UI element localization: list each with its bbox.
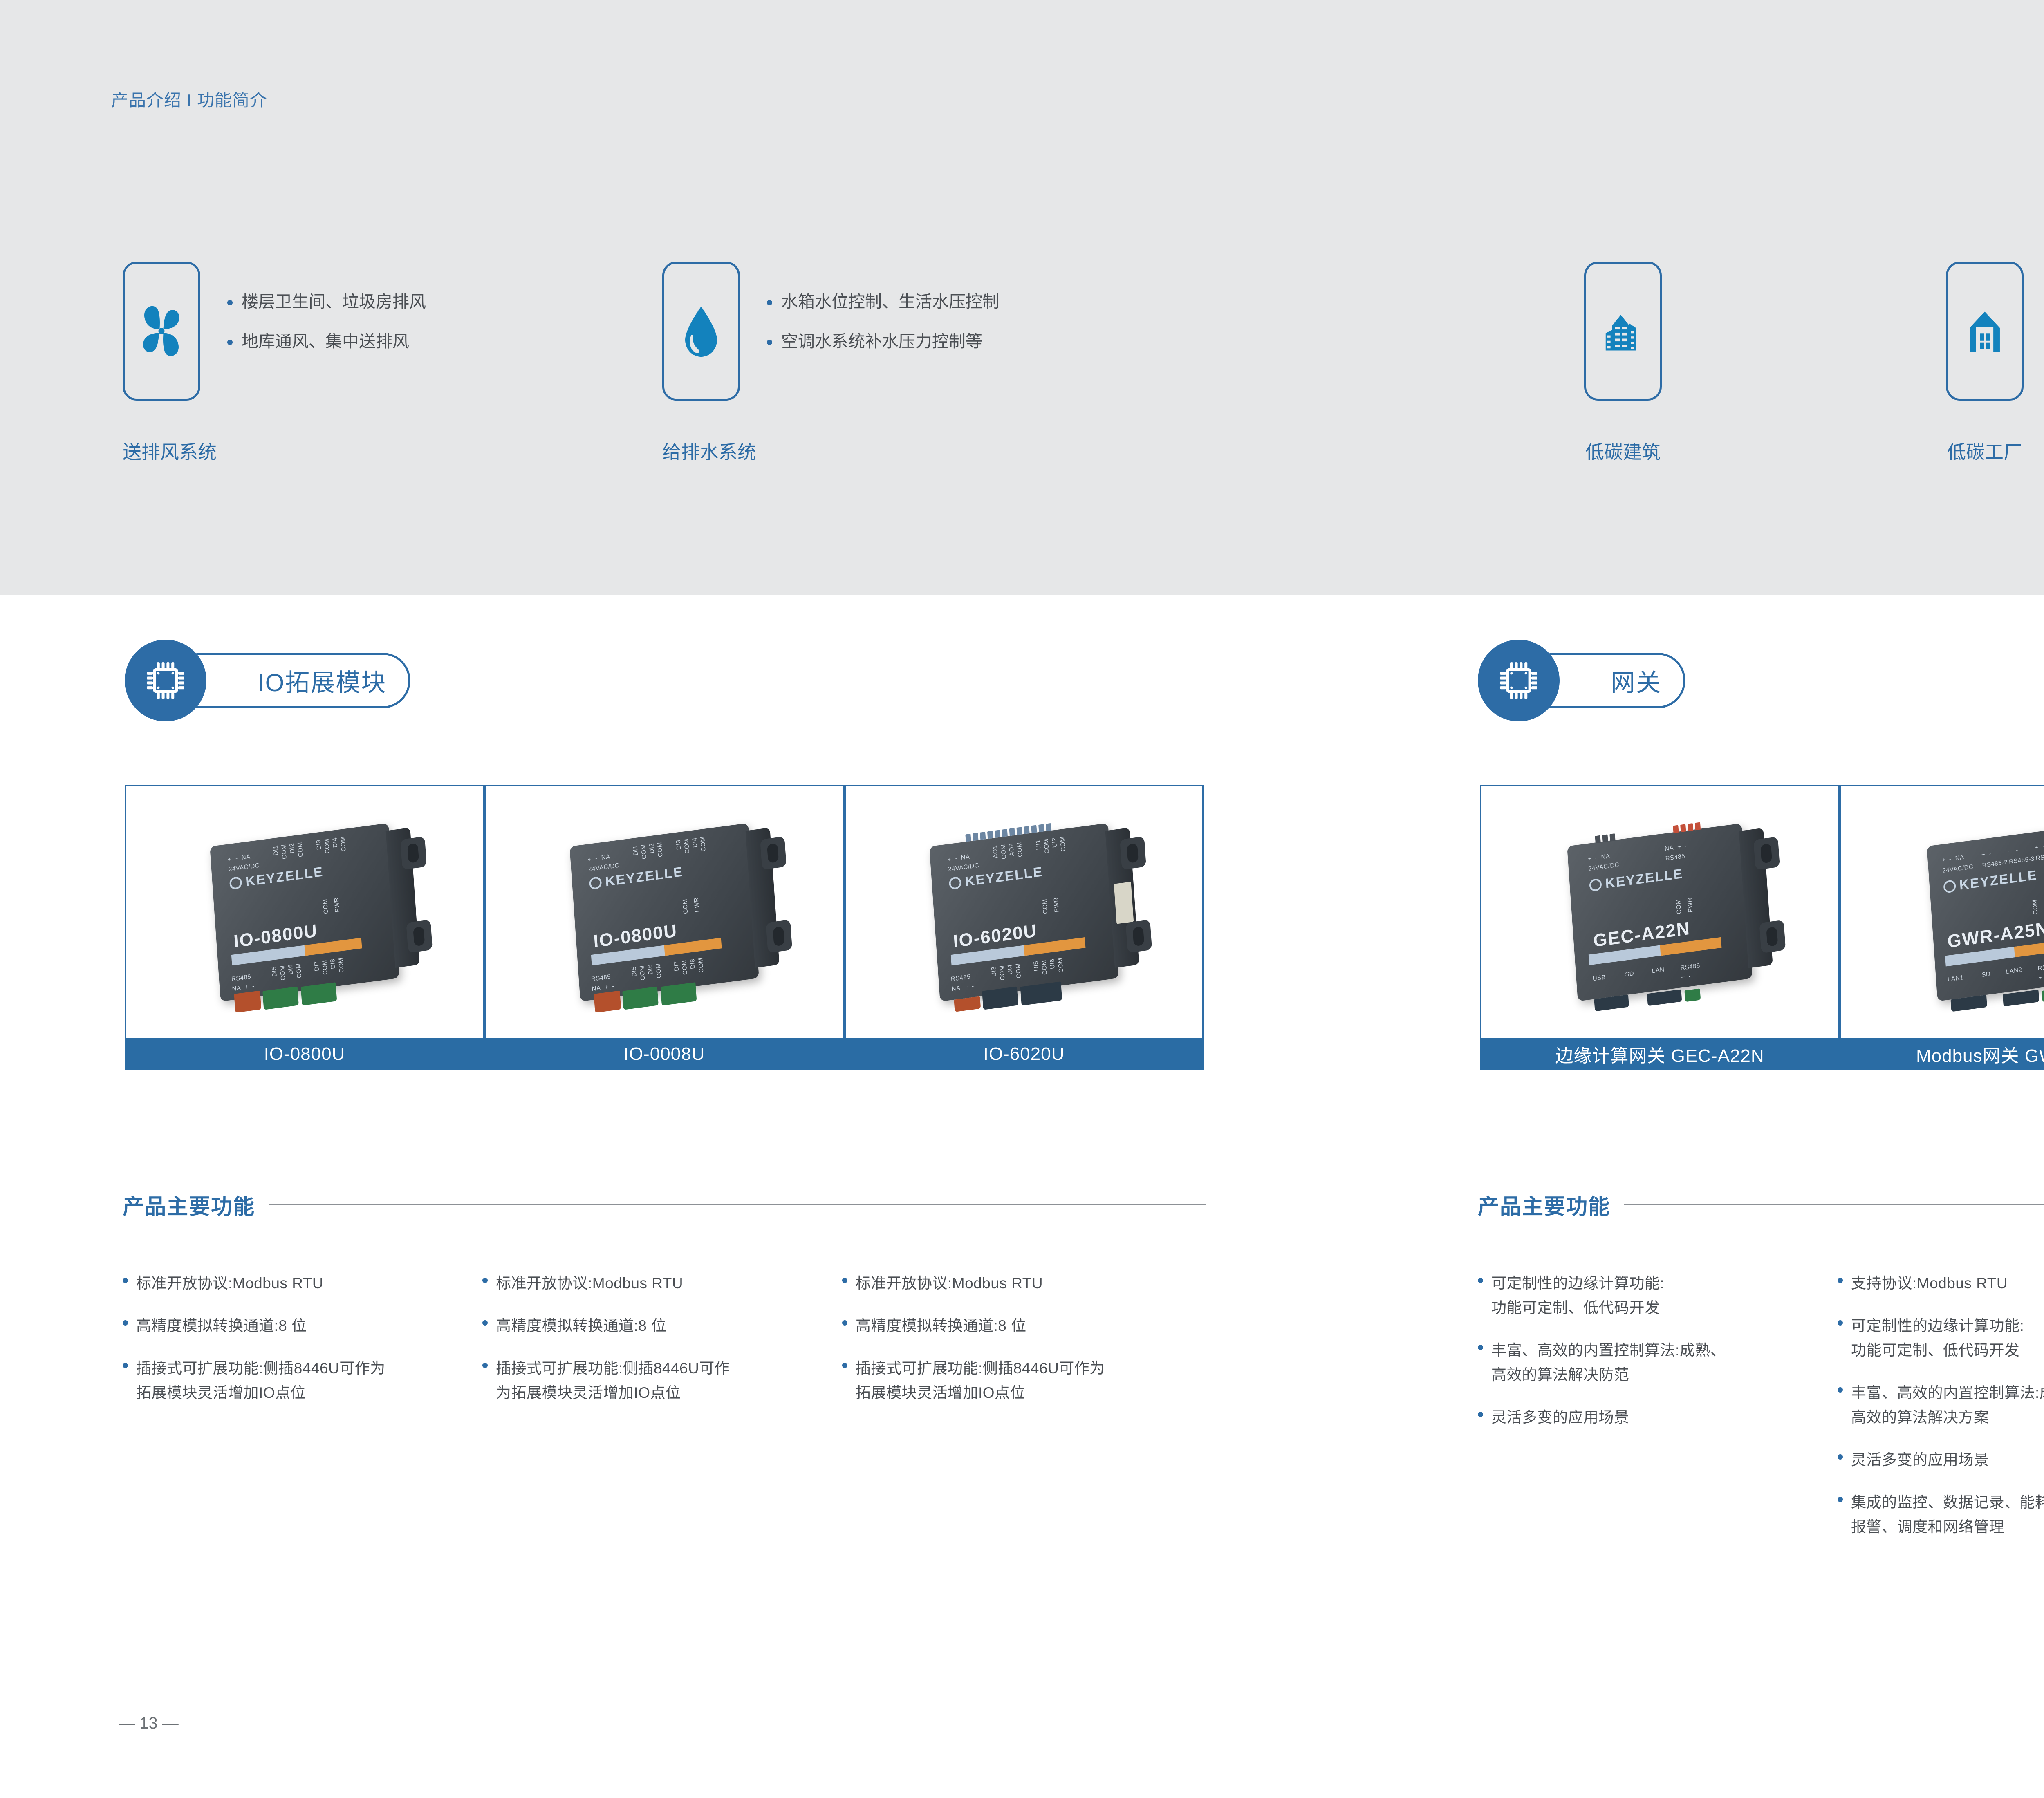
expansion-comb-connector (965, 823, 1051, 842)
product-photo: + - NA24VAC/DC DI1 COM DI2 COM DI3 COM D… (125, 785, 484, 1038)
terminal-label: COM (1015, 963, 1022, 979)
bullet-text: 丰富、高效的内置控制算法:成熟、 (1491, 1342, 1726, 1359)
terminal-block (2042, 989, 2044, 1002)
list-item: 空调水系统补水压力控制等 (767, 333, 999, 350)
section-badge-io-modules: IO拓展模块 (125, 640, 427, 721)
list-item: 集成的监控、数据记录、能耗计量、报警、调度和网络管理 (1838, 1490, 2044, 1539)
list-item: 可定制性的边缘计算功能: 功能可定制、低代码开发 (1478, 1271, 1821, 1320)
section-title: 网关 (1611, 663, 1661, 699)
page-number-left: — 13 — (119, 1714, 179, 1733)
mounting-tab (766, 920, 792, 953)
bullet-dot (123, 1278, 128, 1283)
running-head-left: 产品介绍 I 功能简介 (111, 87, 267, 112)
terminal-label: COM (998, 965, 1006, 981)
scenario-bullet-list: 楼层卫生间、垃圾房排风 地库通风、集中送排风 (227, 262, 426, 373)
scenario-ventilation: 楼层卫生间、垃圾房排风 地库通风、集中送排风 送排风系统 (123, 262, 426, 401)
product-photo: + - NA24VAC/DC + -RS485-2 + -RS485-3 + -… (1840, 785, 2044, 1038)
terminal-label: UI4 (1006, 964, 1014, 975)
rs485-3-label: + -RS485-3 (2008, 843, 2035, 867)
chip-icon-circle (125, 640, 206, 721)
product-card[interactable]: + - NA24VAC/DC AO1 COM AO2 COM UI1 COM U… (844, 785, 1204, 1070)
bullet-text-line2: 功能可定制、低代码开发 (1851, 1338, 2024, 1363)
list-item: 插接式可扩展功能:侧插8446U可作为拓展模块灵活增加IO点位 (123, 1356, 466, 1405)
list-item: 高精度模拟转换通道:8 位 (123, 1314, 466, 1338)
water-drop-icon (670, 300, 732, 362)
feature-column: 标准开放协议:Modbus RTU 高精度模拟转换通道:8 位 插接式可扩展功能… (842, 1271, 1202, 1423)
bullet-dot (842, 1278, 847, 1283)
terminal-label: DI2 (288, 843, 296, 854)
terminal-label: UI1 (1035, 839, 1042, 850)
terminal-label: COM (1057, 957, 1065, 973)
terminal-block (234, 991, 262, 1013)
power-terminal-label: + - NA24VAC/DC (1941, 851, 1974, 876)
bullet-text: 插接式可扩展功能:侧插8446U可作为 (856, 1360, 1105, 1377)
terminal-label: COM (337, 957, 345, 973)
rs485-4-label: + -RS485-4 (2035, 840, 2044, 864)
bullet-text: 楼层卫生间、垃圾房排风 (242, 293, 426, 310)
port-block (2003, 990, 2040, 1006)
chip-icon (1495, 656, 1543, 705)
bullet-text-line2: 高效的算法解决防范 (1491, 1363, 1726, 1387)
bullet-dot (1478, 1345, 1483, 1350)
terminal-label: DI4 (691, 837, 699, 848)
bullet-dot (1838, 1497, 1843, 1502)
product-photo: + - NA24VAC/DC DI1 COM DI2 COM DI3 COM D… (484, 785, 844, 1038)
list-item: 丰富、高效的内置控制算法:成熟、高效的算法解决防范 (1478, 1338, 1821, 1387)
bullet-dot (767, 340, 772, 345)
terminal-label: COM (296, 842, 304, 858)
bullet-text: 插接式可扩展功能:侧插8446U可作 (496, 1360, 730, 1377)
bullet-text-line2: 功能可定制、低代码开发 (1491, 1296, 1664, 1320)
product-photo: + - NA24VAC/DC AO1 COM AO2 COM UI1 COM U… (844, 785, 1204, 1038)
product-card[interactable]: + - NA24VAC/DC NA + -RS485 KEYZELLE GEC-… (1480, 785, 1840, 1070)
factory-icon (1958, 304, 2012, 358)
terminal-label: DI1 (272, 845, 280, 856)
terminal-label: COM (1040, 959, 1048, 975)
terminal-label: COM (279, 965, 287, 981)
product-card[interactable]: + - NA24VAC/DC DI1 COM DI2 COM DI3 COM D… (484, 785, 844, 1070)
bullet-dot (1838, 1320, 1843, 1326)
brochure-spread: 产品介绍 I 功能简介 产品介绍 I 功能简介 楼层卫生间、垃圾房排风 地库通风… (0, 0, 2044, 1798)
terminal-label: COM (640, 844, 648, 860)
terminal-block (301, 982, 337, 1005)
terminal-label: DI3 (675, 839, 683, 850)
port-label-sd: SD (1625, 970, 1634, 978)
port-label-lan2: LAN2 (2006, 966, 2022, 975)
scenario-low-carbon-building: 低碳建筑 (1584, 262, 1662, 401)
port-label-sd: SD (1981, 970, 1991, 978)
terminal-label: DI7 (313, 961, 320, 972)
product-label: IO-6020U (844, 1038, 1204, 1070)
terminal-label: COM (323, 838, 331, 854)
scenario-caption: 低碳建筑 (1585, 437, 1661, 464)
scenario-caption: 给排水系统 (662, 437, 756, 464)
terminal-block (262, 986, 299, 1010)
office-buildings-icon (1596, 304, 1650, 358)
mounting-tab (1120, 836, 1146, 870)
terminal-label: COM (656, 842, 664, 858)
terminal-label: DI6 (287, 964, 295, 975)
bullet-dot (227, 300, 233, 305)
scenario-icon-box (1946, 262, 2024, 401)
terminal-block (1020, 981, 1062, 1005)
chip-icon (141, 656, 190, 705)
device-illustration: + - NA24VAC/DC AO1 COM AO2 COM UI1 COM U… (929, 823, 1119, 1002)
terminal-block (982, 986, 1018, 1010)
features-title: 产品主要功能 (1478, 1189, 1610, 1220)
mounting-tab (1753, 837, 1780, 870)
terminal-block (1684, 988, 1701, 1002)
bullet-text-line2: 为拓展模块灵活增加IO点位 (496, 1381, 730, 1405)
bullet-dot (1478, 1278, 1483, 1283)
bullet-text: 高精度模拟转换通道:8 位 (136, 1317, 307, 1334)
bullet-text: 标准开放协议:Modbus RTU (136, 1275, 323, 1292)
product-photo: + - NA24VAC/DC NA + -RS485 KEYZELLE GEC-… (1480, 785, 1840, 1038)
feature-column: 可定制性的边缘计算功能: 功能可定制、低代码开发 丰富、高效的内置控制算法:成熟… (1478, 1271, 1821, 1448)
heading-rule (269, 1204, 1206, 1205)
terminal-label: COM (681, 959, 688, 975)
terminal-label: COM (280, 844, 288, 860)
power-terminal-label: + - NA24VAC/DC (228, 851, 260, 875)
features-heading-gateway: 产品主要功能 (1478, 1189, 2044, 1220)
terminal-block (622, 986, 659, 1010)
terminal-label: COM (321, 959, 329, 975)
bullet-dot (123, 1363, 128, 1368)
scenario-icon-box (1584, 262, 1662, 401)
bullet-text: 支持协议:Modbus RTU (1851, 1275, 2008, 1292)
list-item: 灵活多变的应用场景 (1838, 1448, 2044, 1472)
bullet-dot (767, 300, 772, 305)
terminal-label: DI3 (315, 839, 323, 850)
section-pill: IO拓展模块 (174, 653, 410, 708)
feature-column: 标准开放协议:Modbus RTU 高精度模拟转换通道:8 位 插接式可扩展功能… (482, 1271, 826, 1423)
bullet-text-line2: 拓展模块灵活增加IO点位 (856, 1381, 1105, 1405)
list-item: 水箱水位控制、生活水压控制 (767, 293, 999, 310)
scenario-low-carbon-factory: 低碳工厂 (1946, 262, 2024, 401)
side-expansion-label (1114, 882, 1134, 924)
bullet-dot (1478, 1412, 1483, 1417)
device-illustration: + - NA24VAC/DC DI1 COM DI2 COM DI3 COM D… (569, 823, 759, 1002)
port-label-rs485-1: RS485-1+ - (2037, 961, 2044, 983)
terminal-label: DI8 (689, 958, 697, 970)
product-label: 边缘计算网关 GEC-A22N (1480, 1038, 1840, 1070)
list-item: 丰富、高效的内置控制算法:成熟、高效的算法解决方案 (1838, 1381, 2044, 1430)
terminal-label: DI5 (630, 966, 638, 977)
bullet-text: 标准开放协议:Modbus RTU (496, 1275, 683, 1292)
bullet-text: 丰富、高效的内置控制算法:成熟、 (1851, 1384, 2044, 1401)
bullet-dot (482, 1320, 488, 1326)
features-heading-io: 产品主要功能 (123, 1189, 1206, 1220)
port-label-usb: USB (1592, 974, 1606, 982)
keyzelle-mark (229, 876, 242, 890)
scenario-caption: 低碳工厂 (1947, 437, 2022, 464)
top-connector-orange (1673, 822, 1701, 833)
port-label-lan1: LAN1 (1947, 974, 1963, 983)
scenario-bullet-list: 水箱水位控制、生活水压控制 空调水系统补水压力控制等 (767, 262, 999, 373)
terminal-label: DI5 (271, 966, 278, 977)
list-item: 高精度模拟转换通道:8 位 (842, 1314, 1202, 1338)
terminal-label: UI5 (1032, 961, 1040, 972)
bullet-text: 可定制性的边缘计算功能: (1491, 1275, 1664, 1292)
product-label: IO-0800U (125, 1038, 484, 1070)
list-item: 支持协议:Modbus RTU (1838, 1271, 2044, 1296)
mounting-tab (1759, 920, 1786, 953)
bullet-dot (123, 1320, 128, 1326)
terminal-block (661, 982, 697, 1005)
rs485-label: RS485NA + - (231, 972, 255, 994)
port-block (1647, 989, 1682, 1006)
terminal-label: COM (699, 836, 707, 852)
bullet-dot (482, 1278, 488, 1283)
list-item: 插接式可扩展功能:侧插8446U可作为拓展模块灵活增加IO点位 (482, 1356, 826, 1405)
bullet-text: 灵活多变的应用场景 (1851, 1451, 1989, 1468)
list-item: 楼层卫生间、垃圾房排风 (227, 293, 426, 310)
device-illustration: + - NA24VAC/DC NA + -RS485 KEYZELLE GEC-… (1567, 823, 1753, 1001)
power-terminal-label: + - NA24VAC/DC (1587, 850, 1620, 874)
list-item: 灵活多变的应用场景 (1478, 1405, 1821, 1430)
bullet-dot (842, 1320, 847, 1326)
terminal-label: COM (1059, 836, 1067, 852)
terminal-label: DI2 (648, 843, 656, 854)
heading-rule (1624, 1204, 2044, 1205)
status-leds: COM PWR (1044, 923, 1056, 925)
terminal-label: COM (1043, 838, 1051, 854)
port-label-lan: LAN (1652, 966, 1665, 974)
product-label: IO-0008U (484, 1038, 844, 1070)
chip-icon-circle (1478, 640, 1560, 721)
section-title: IO拓展模块 (258, 663, 386, 699)
terminal-label: DI4 (331, 837, 339, 848)
status-leds: COM PWR (685, 923, 696, 925)
bullet-dot (1838, 1387, 1843, 1393)
bullet-text-line2: 高效的算法解决方案 (1851, 1405, 2044, 1430)
mounting-tab (760, 836, 787, 870)
bullet-dot (227, 340, 233, 345)
terminal-label: COM (1016, 842, 1024, 858)
status-leds: COM PWR (325, 923, 336, 925)
bullet-text: 可定制性的边缘计算功能: (1851, 1317, 2024, 1334)
list-item: 标准开放协议:Modbus RTU (482, 1271, 826, 1296)
mounting-tab (400, 836, 427, 870)
product-card[interactable]: + - NA24VAC/DC DI1 COM DI2 COM DI3 COM D… (125, 785, 484, 1070)
feature-column: 支持协议:Modbus RTU 可定制性的边缘计算功能:功能可定制、低代码开发 … (1838, 1271, 2044, 1557)
port-block (1950, 995, 1987, 1012)
bullet-text: 标准开放协议:Modbus RTU (856, 1275, 1043, 1292)
list-item: 标准开放协议:Modbus RTU (842, 1271, 1202, 1296)
feature-column: 标准开放协议:Modbus RTU 高精度模拟转换通道:8 位 插接式可扩展功能… (123, 1271, 466, 1423)
terminal-label: COM (339, 836, 347, 852)
scenario-caption: 送排风系统 (123, 437, 217, 464)
bullet-dot (1838, 1454, 1843, 1460)
bullet-text: 空调水系统补水压力控制等 (781, 333, 982, 350)
scenario-water-supply: 水箱水位控制、生活水压控制 空调水系统补水压力控制等 给排水系统 (662, 262, 999, 401)
terminal-label: COM (639, 965, 646, 981)
rs485-2-label: + -RS485-2 (1981, 846, 2008, 871)
terminal-label: UI3 (990, 966, 998, 977)
terminal-label: COM (655, 963, 663, 979)
list-item: 标准开放协议:Modbus RTU (123, 1271, 466, 1296)
product-label: Modbus网关 GWR-A25N (1840, 1038, 2044, 1070)
terminal-label: UI2 (1051, 837, 1058, 848)
terminal-label: AO1 (991, 845, 999, 859)
bullet-text: 水箱水位控制、生活水压控制 (781, 293, 999, 310)
terminal-label: DI8 (329, 958, 337, 970)
terminal-label: DI1 (632, 845, 639, 856)
list-item: 地库通风、集中送排风 (227, 333, 426, 350)
bullet-dot (1838, 1278, 1843, 1283)
rs485-terminal-label: NA + -RS485 (1664, 841, 1688, 864)
port-label-rs485: RS485+ - (1680, 961, 1701, 982)
top-connector (1595, 833, 1616, 843)
bullet-dot (482, 1363, 488, 1368)
bullet-text-line2: 拓展模块灵活增加IO点位 (136, 1381, 385, 1405)
terminal-label: COM (697, 957, 705, 973)
bullet-text: 插接式可扩展功能:侧插8446U可作为 (136, 1360, 385, 1377)
terminal-label: AO2 (1008, 843, 1015, 857)
bullet-text: 集成的监控、数据记录、能耗计量、 (1851, 1494, 2044, 1511)
device-illustration: + - NA24VAC/DC + -RS485-2 + -RS485-3 + -… (1927, 823, 2044, 1001)
power-terminal-label: + - NA24VAC/DC (587, 851, 620, 875)
terminal-label: DI6 (647, 964, 654, 975)
terminal-label: DI7 (672, 961, 680, 972)
bullet-text: 灵活多变的应用场景 (1491, 1409, 1629, 1426)
bullet-text: 高精度模拟转换通道:8 位 (496, 1317, 667, 1334)
fan-icon (131, 300, 192, 362)
terminal-label: UI6 (1049, 958, 1056, 970)
mounting-tab (1125, 920, 1152, 953)
mounting-tab (406, 920, 433, 953)
terminal-block (594, 991, 621, 1013)
terminal-label: COM (295, 963, 303, 979)
section-badge-gateway: 网关 (1478, 640, 1731, 721)
list-item: 高精度模拟转换通道:8 位 (482, 1314, 826, 1338)
scenario-icon-box (123, 262, 200, 401)
port-block (1594, 994, 1629, 1011)
keyzelle-mark (589, 876, 602, 890)
power-terminal-label: + - NA24VAC/DC (947, 851, 979, 875)
keyzelle-mark (1943, 880, 1956, 893)
terminal-label: COM (1000, 844, 1007, 860)
device-illustration: + - NA24VAC/DC DI1 COM DI2 COM DI3 COM D… (210, 823, 399, 1002)
bullet-text-line2: 报警、调度和网络管理 (1851, 1515, 2044, 1539)
rs485-label: RS485NA + - (950, 972, 974, 994)
list-item: 插接式可扩展功能:侧插8446U可作为拓展模块灵活增加IO点位 (842, 1356, 1202, 1405)
product-card[interactable]: + - NA24VAC/DC + -RS485-2 + -RS485-3 + -… (1840, 785, 2044, 1070)
features-title: 产品主要功能 (123, 1189, 255, 1220)
keyzelle-mark (949, 876, 962, 890)
list-item: 可定制性的边缘计算功能:功能可定制、低代码开发 (1838, 1314, 2044, 1363)
terminal-block (954, 996, 981, 1012)
scenario-icon-box (662, 262, 740, 401)
keyzelle-mark (1589, 878, 1602, 892)
bullet-text: 地库通风、集中送排风 (242, 333, 409, 350)
rs485-label: RS485NA + - (591, 972, 614, 994)
bullet-dot (842, 1363, 847, 1368)
terminal-label: COM (683, 838, 691, 854)
bullet-text: 高精度模拟转换通道:8 位 (856, 1317, 1026, 1334)
